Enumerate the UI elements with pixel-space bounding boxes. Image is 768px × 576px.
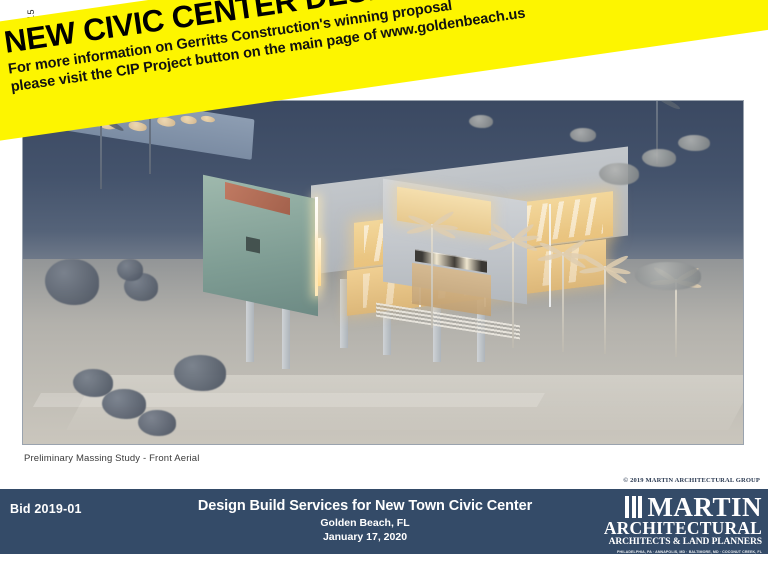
palm-trunk — [512, 238, 514, 348]
logo-office-cities: PHILADELPHIA, PA · ANNAPOLIS, MD · BALTI… — [600, 550, 762, 554]
palm-tree — [592, 266, 618, 354]
logo-tagline: ARCHITECTS & LAND PLANNERS — [600, 538, 762, 548]
palm-tree — [549, 252, 577, 352]
figure-caption: Preliminary Massing Study - Front Aerial — [24, 453, 199, 464]
project-location: Golden Beach, FL — [150, 517, 580, 529]
palm-trunk — [562, 252, 564, 352]
landscape-bush — [642, 149, 676, 167]
landscape-bush — [138, 410, 176, 436]
landscape-bush — [45, 259, 99, 305]
landscape-bush — [174, 355, 226, 391]
landscape-bush — [678, 135, 710, 151]
landscape-bush — [102, 389, 146, 419]
copyright-notice: © 2019 MARTIN ARCHITECTURAL GROUP — [623, 477, 760, 484]
martin-architectural-logo: MARTIN ARCHITECTURAL ARCHITECTS & LAND P… — [600, 495, 762, 554]
footer-project-info: Design Build Services for New Town Civic… — [150, 497, 580, 543]
rendering-canvas — [23, 101, 743, 444]
logo-bars-icon — [625, 496, 642, 518]
logo-primary-row: MARTIN — [600, 495, 762, 521]
vertical-light-strip — [318, 238, 321, 286]
palm-tree — [419, 224, 445, 328]
project-date: January 17, 2020 — [150, 531, 580, 543]
palm-tree — [498, 238, 528, 348]
palm-frond — [656, 100, 681, 111]
logo-subtitle: ARCHITECTURAL — [600, 520, 762, 538]
presentation-slide: 15 — [0, 0, 768, 576]
landscape-bush — [117, 259, 143, 281]
logo-name: MARTIN — [647, 495, 762, 521]
architectural-rendering-image — [22, 100, 744, 445]
circular-skylight — [180, 115, 197, 125]
circular-skylight — [201, 115, 215, 123]
landscape-bush — [635, 262, 701, 290]
project-title: Design Build Services for New Town Civic… — [150, 497, 580, 515]
palm-trunk — [675, 279, 677, 357]
bid-number: Bid 2019-01 — [10, 502, 82, 516]
landscape-bush — [570, 128, 596, 142]
landscape-bush — [599, 163, 639, 185]
palm-trunk — [604, 266, 606, 354]
landscape-bush — [469, 115, 493, 128]
palm-tree — [664, 279, 688, 357]
palm-trunk — [431, 224, 433, 328]
footer-bar: Bid 2019-01 Design Build Services for Ne… — [0, 489, 768, 554]
